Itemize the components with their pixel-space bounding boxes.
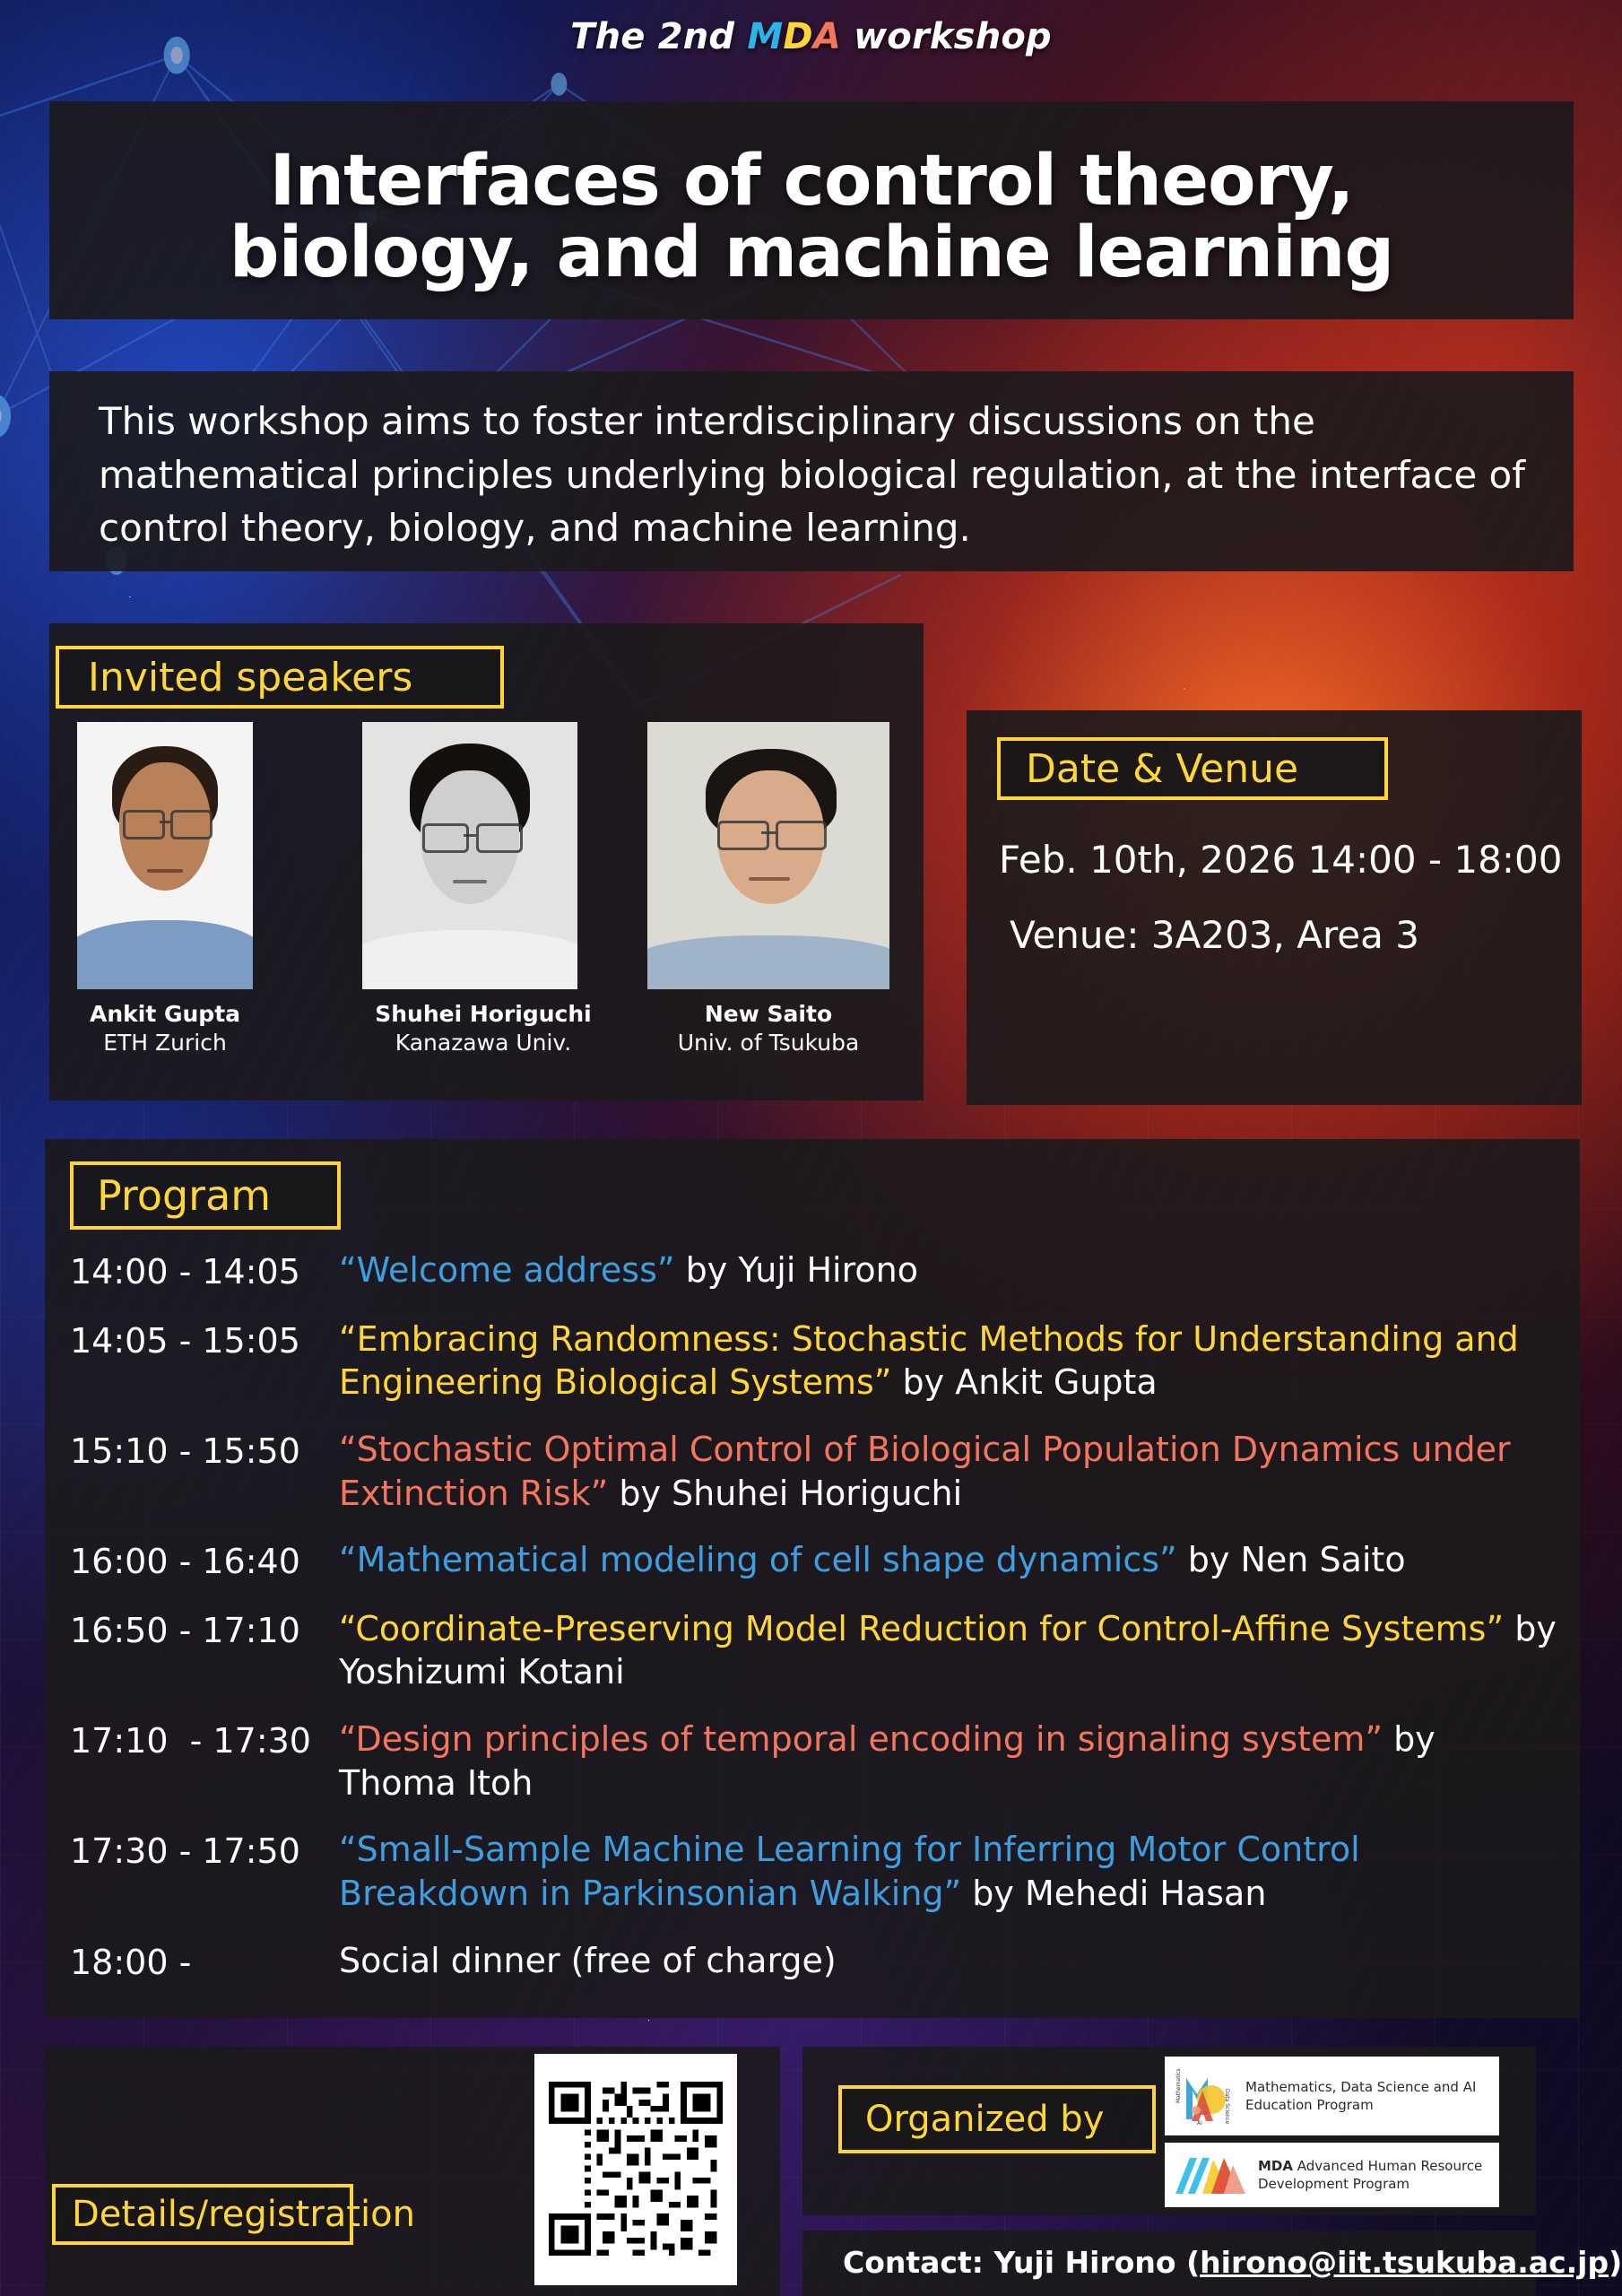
program-time: 14:00 - 14:05 (70, 1248, 339, 1294)
logo-line-2: Education Program (1245, 2096, 1476, 2114)
program-row: 17:30 - 17:50“Small-Sample Machine Learn… (70, 1828, 1558, 1915)
contact-email-link[interactable]: hirono@iit.tsukuba.ac.jp (1200, 2245, 1609, 2280)
details-registration-label: Details/registration (72, 2194, 415, 2235)
speaker-name: Shuhei Horiguchi (362, 1002, 604, 1028)
program-time: 15:10 - 15:50 (70, 1428, 339, 1474)
speaker-card: Shuhei Horiguchi Kanazawa Univ. (362, 722, 604, 1057)
contact-suffix: ) (1609, 2245, 1622, 2280)
kicker-post: workshop (841, 16, 1052, 57)
speaker-name: Ankit Gupta (77, 1002, 253, 1028)
program-time: 17:10 - 17:30 (70, 1718, 339, 1763)
program-title: “Design principles of temporal encoding … (339, 1718, 1558, 1805)
qr-code-icon (549, 2074, 723, 2264)
program-time: 14:05 - 15:05 (70, 1318, 339, 1363)
program-title: “Mathematical modeling of cell shape dyn… (339, 1538, 1558, 1582)
program-talk-title: “Coordinate-Preserving Model Reduction f… (339, 1609, 1504, 1648)
svg-text:AI: AI (1197, 2120, 1202, 2126)
program-row: 14:00 - 14:05“Welcome address” by Yuji H… (70, 1248, 1558, 1294)
organized-by-label: Organized by (865, 2099, 1104, 2140)
program-row: 17:10 - 17:30“Design principles of tempo… (70, 1718, 1558, 1805)
program-title: “Welcome address” by Yuji Hirono (339, 1248, 1558, 1292)
svg-text:Data Science: Data Science (1224, 2089, 1230, 2125)
logo-text: MDA Advanced Human Resource Development … (1258, 2157, 1482, 2194)
contact-prefix: Contact: Yuji Hirono ( (843, 2245, 1200, 2280)
speakers-heading-label: Invited speakers (88, 655, 412, 700)
program-title: “Coordinate-Preserving Model Reduction f… (339, 1607, 1558, 1694)
logo-line-2: Development Program (1258, 2175, 1482, 2193)
details-registration-box[interactable]: Details/registration (52, 2184, 353, 2245)
program-list: 14:00 - 14:05“Welcome address” by Yuji H… (70, 1248, 1558, 2007)
speaker-photo (362, 722, 577, 989)
intro-text: This workshop aims to foster interdiscip… (99, 395, 1533, 555)
program-heading: Program (70, 1161, 341, 1230)
program-talk-title: “Welcome address” (339, 1250, 675, 1290)
svg-text:Mathematics: Mathematics (1175, 2068, 1182, 2103)
kicker-letter-a: A (813, 16, 841, 57)
program-title: “Stochastic Optimal Control of Biologica… (339, 1428, 1558, 1515)
program-row: 15:10 - 15:50“Stochastic Optimal Control… (70, 1428, 1558, 1515)
program-heading-label: Program (97, 1171, 271, 1220)
kicker-letter-m: M (747, 16, 783, 57)
speaker-name: New Saito (647, 1002, 889, 1028)
program-time: 17:30 - 17:50 (70, 1828, 339, 1874)
program-speaker: by Ankit Gupta (891, 1362, 1157, 1402)
program-title: Social dinner (free of charge) (339, 1939, 1558, 1983)
speaker-affiliation: ETH Zurich (77, 1031, 253, 1057)
portrait-icon (647, 722, 889, 989)
date-venue-heading-label: Date & Venue (1026, 746, 1298, 792)
kicker-pre: The 2nd (570, 16, 747, 57)
venue-text: Venue: 3A203, Area 3 (1010, 913, 1419, 957)
speaker-photo (647, 722, 889, 989)
logo-bold-prefix: MDA (1258, 2158, 1293, 2174)
program-row: 18:00 -Social dinner (free of charge) (70, 1939, 1558, 1985)
speakers-heading: Invited speakers (56, 646, 504, 709)
program-row: 16:00 - 16:40“Mathematical modeling of c… (70, 1538, 1558, 1584)
logo-line-1: Mathematics, Data Science and AI (1245, 2078, 1476, 2096)
program-title: “Embracing Randomness: Stochastic Method… (339, 1318, 1558, 1405)
speaker-card: Ankit Gupta ETH Zurich (77, 722, 253, 1057)
qr-code[interactable] (534, 2054, 737, 2285)
program-speaker: by Yuji Hirono (675, 1250, 918, 1290)
program-row: 14:05 - 15:05“Embracing Randomness: Stoc… (70, 1318, 1558, 1405)
program-time: 16:50 - 17:10 (70, 1607, 339, 1653)
program-time: 18:00 - (70, 1939, 339, 1985)
logo-mda-advanced-program: MDA Advanced Human Resource Development … (1165, 2143, 1499, 2207)
organized-by-box: Organized by (838, 2085, 1156, 2153)
date-text: Feb. 10th, 2026 14:00 - 18:00 (999, 838, 1562, 882)
title-line-2: biology, and machine learning (230, 218, 1393, 290)
kicker-letter-d: D (783, 16, 812, 57)
speaker-photo (77, 722, 253, 989)
logo-text: Mathematics, Data Science and AI Educati… (1245, 2078, 1476, 2115)
speaker-card: New Saito Univ. of Tsukuba (647, 722, 889, 1057)
program-talk-title: Social dinner (free of charge) (339, 1941, 837, 1980)
date-venue-heading: Date & Venue (997, 737, 1388, 800)
program-row: 16:50 - 17:10“Coordinate-Preserving Mode… (70, 1607, 1558, 1694)
portrait-icon (77, 722, 253, 989)
contact-text: Contact: Yuji Hirono (hirono@iit.tsukuba… (843, 2245, 1622, 2280)
speaker-affiliation: Kanazawa Univ. (362, 1031, 604, 1057)
mda-logo-icon: Mathematics Data Science AI (1172, 2064, 1236, 2128)
program-talk-title: “Mathematical modeling of cell shape dyn… (339, 1540, 1177, 1579)
page-title: Interfaces of control theory, biology, a… (49, 118, 1574, 317)
program-speaker: by Shuhei Horiguchi (608, 1474, 962, 1513)
logo-line-1: MDA Advanced Human Resource (1258, 2157, 1482, 2175)
program-speaker: by Nen Saito (1177, 1540, 1406, 1579)
program-title: “Small-Sample Machine Learning for Infer… (339, 1828, 1558, 1915)
speaker-affiliation: Univ. of Tsukuba (647, 1031, 889, 1057)
workshop-kicker: The 2nd MDA workshop (0, 16, 1622, 57)
logo-line-1-rest: Advanced Human Resource (1293, 2158, 1482, 2174)
poster-root: The 2nd MDA workshop Interfaces of contr… (0, 0, 1622, 2296)
program-speaker: by Mehedi Hasan (961, 1874, 1266, 1913)
program-time: 16:00 - 16:40 (70, 1538, 339, 1584)
program-talk-title: “Design principles of temporal encoding … (339, 1719, 1383, 1759)
logo-mda-education-program: Mathematics Data Science AI Mathematics,… (1165, 2057, 1499, 2135)
title-line-1: Interfaces of control theory, (270, 146, 1354, 218)
portrait-icon (362, 722, 577, 989)
mda-mountain-logo-icon (1172, 2151, 1249, 2199)
